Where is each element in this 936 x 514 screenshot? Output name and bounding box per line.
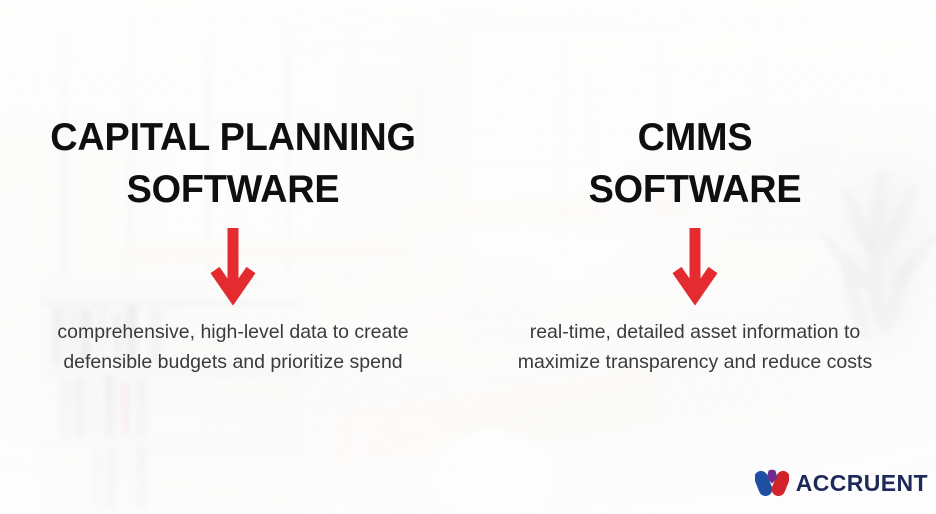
accruent-logo: ACCRUENT <box>755 466 928 500</box>
column-capital-planning: CAPITAL PLANNING SOFTWARE comprehensive,… <box>8 0 458 514</box>
heading-line-2: SOFTWARE <box>15 164 452 216</box>
column-cmms: CMMS SOFTWARE real-time, detailed asset … <box>470 0 920 514</box>
description-cmms: real-time, detailed asset information to… <box>470 318 920 377</box>
heading-cmms: CMMS SOFTWARE <box>477 112 914 216</box>
heading-line-1: CAPITAL PLANNING <box>50 116 415 159</box>
accruent-a-mark-icon <box>755 466 789 500</box>
heading-line-2: SOFTWARE <box>477 164 914 216</box>
arrow-down-icon <box>210 226 256 306</box>
slide-content: CAPITAL PLANNING SOFTWARE comprehensive,… <box>0 0 936 514</box>
arrow-down-wrapper-left <box>8 226 458 306</box>
arrow-down-wrapper-right <box>470 226 920 306</box>
heading-line-1: CMMS <box>638 116 753 159</box>
heading-capital-planning: CAPITAL PLANNING SOFTWARE <box>15 112 452 216</box>
description-capital-planning: comprehensive, high-level data to create… <box>8 318 458 377</box>
arrow-down-icon <box>672 226 718 306</box>
slide-canvas: CAPITAL PLANNING SOFTWARE comprehensive,… <box>0 0 936 514</box>
accruent-wordmark: ACCRUENT <box>796 472 928 495</box>
